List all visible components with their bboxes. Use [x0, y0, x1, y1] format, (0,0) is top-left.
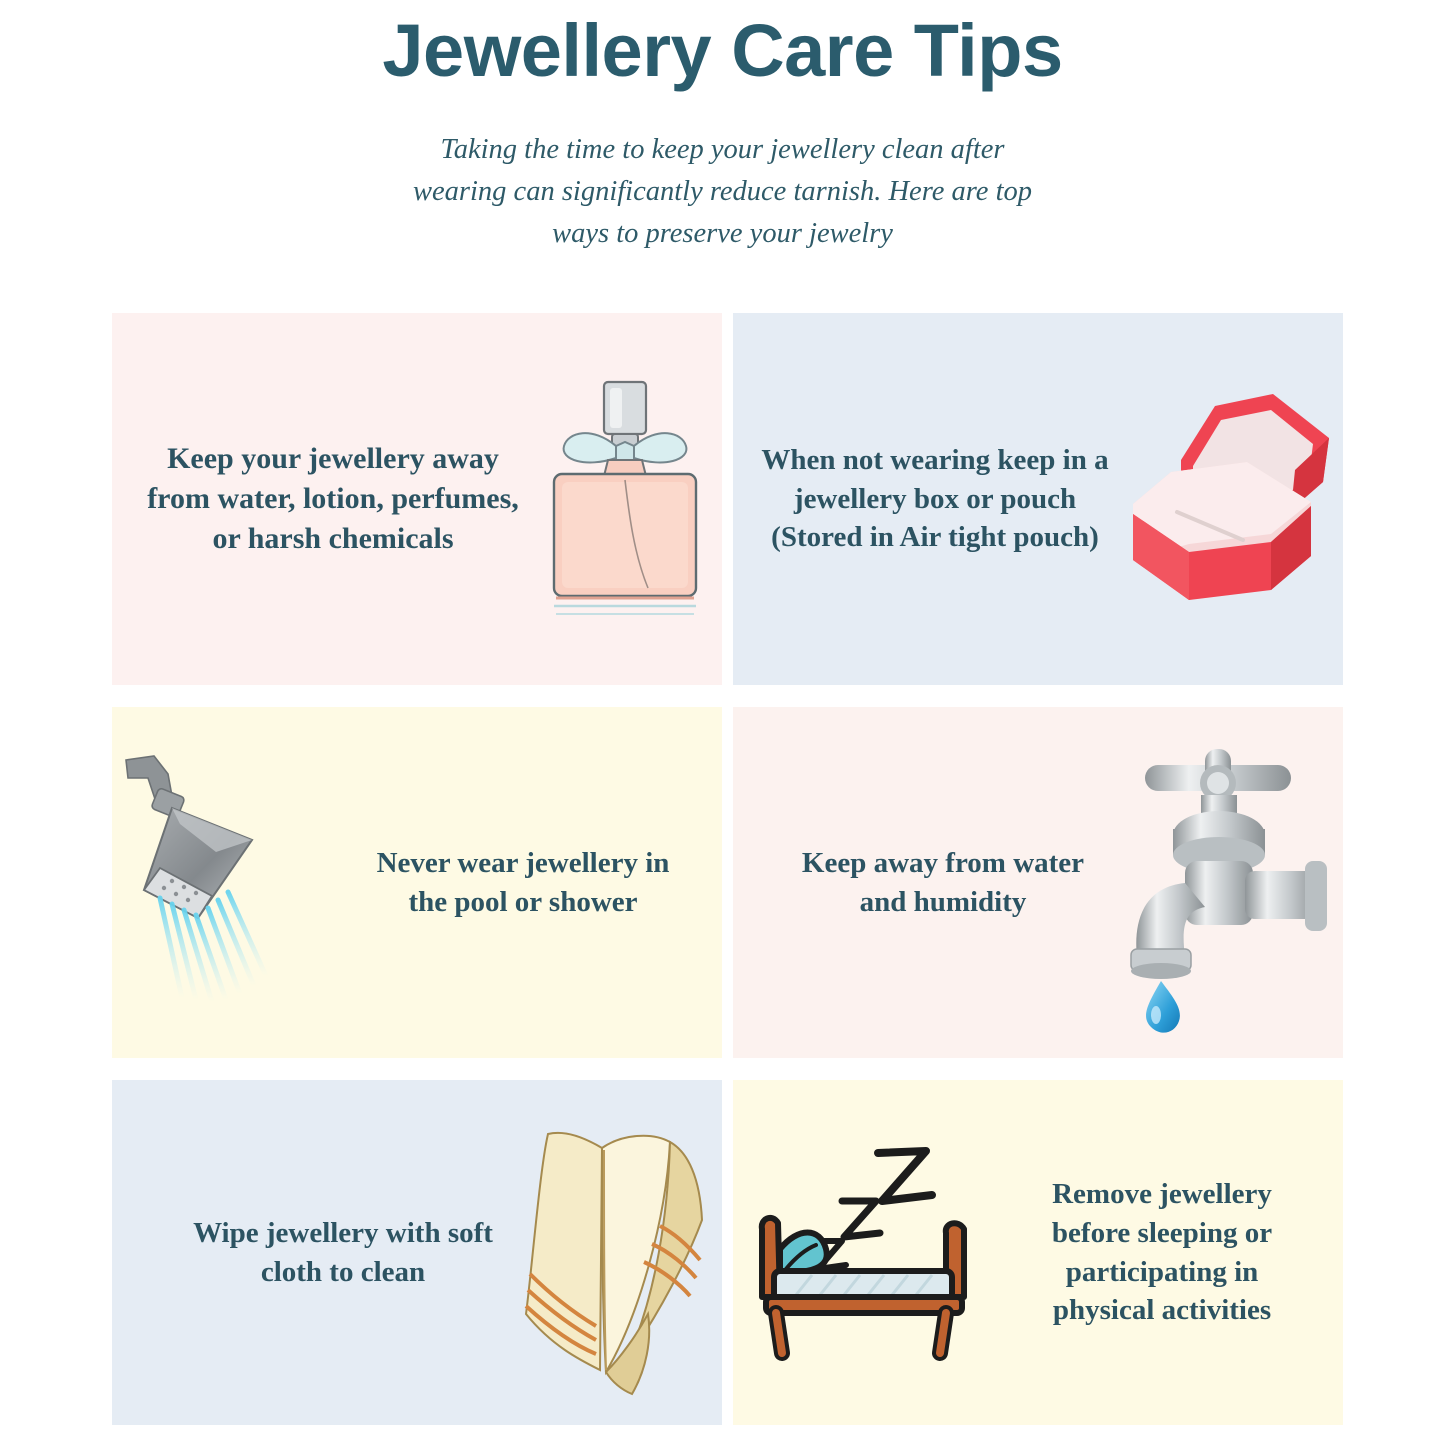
- page-title: Jewellery Care Tips: [0, 8, 1445, 93]
- tip-card-illustration: [112, 707, 358, 1058]
- tip-card-label: Remove jewellery before sleeping or part…: [1017, 1175, 1307, 1330]
- page-subtitle: Taking the time to keep your jewellery c…: [393, 129, 1053, 256]
- tip-card-illustration: [528, 313, 722, 685]
- tip-card-keep-away-chemicals[interactable]: Keep your jewellery away from water, lot…: [112, 313, 722, 685]
- tip-card-illustration: [1093, 707, 1343, 1058]
- faucet-icon: [1093, 743, 1343, 1023]
- tip-card-no-pool-or-shower[interactable]: Never wear jewellery in the pool or show…: [112, 707, 722, 1058]
- tip-card-label: Keep away from water and humidity: [793, 844, 1093, 922]
- tip-card-away-from-water[interactable]: Keep away from water and humidity: [733, 707, 1343, 1058]
- perfume-bottle-icon: [530, 374, 720, 624]
- header: Jewellery Care Tips Taking the time to k…: [0, 0, 1445, 256]
- tip-card-illustration: [733, 1080, 1017, 1425]
- tip-card-wipe-with-cloth[interactable]: Wipe jewellery with soft cloth to clean: [112, 1080, 722, 1425]
- tip-card-illustration: [1115, 313, 1343, 685]
- tip-card-label: Wipe jewellery with soft cloth to clean: [178, 1214, 508, 1292]
- tip-card-illustration: [508, 1080, 722, 1425]
- tip-card-label: Never wear jewellery in the pool or show…: [358, 844, 688, 922]
- cloth-icon: [510, 1108, 720, 1398]
- infographic-page: Jewellery Care Tips Taking the time to k…: [0, 0, 1445, 1445]
- tip-card-label: When not wearing keep in a jewellery box…: [755, 441, 1115, 558]
- shower-head-icon: [120, 748, 350, 1018]
- bed-sleep-icon: [750, 1145, 1000, 1360]
- tips-grid: Keep your jewellery away from water, lot…: [112, 313, 1333, 1425]
- tip-card-remove-before-sleeping[interactable]: Remove jewellery before sleeping or part…: [733, 1080, 1343, 1425]
- tip-card-label: Keep your jewellery away from water, lot…: [138, 439, 528, 560]
- ring-box-icon: [1115, 374, 1343, 624]
- tip-card-store-in-box[interactable]: When not wearing keep in a jewellery box…: [733, 313, 1343, 685]
